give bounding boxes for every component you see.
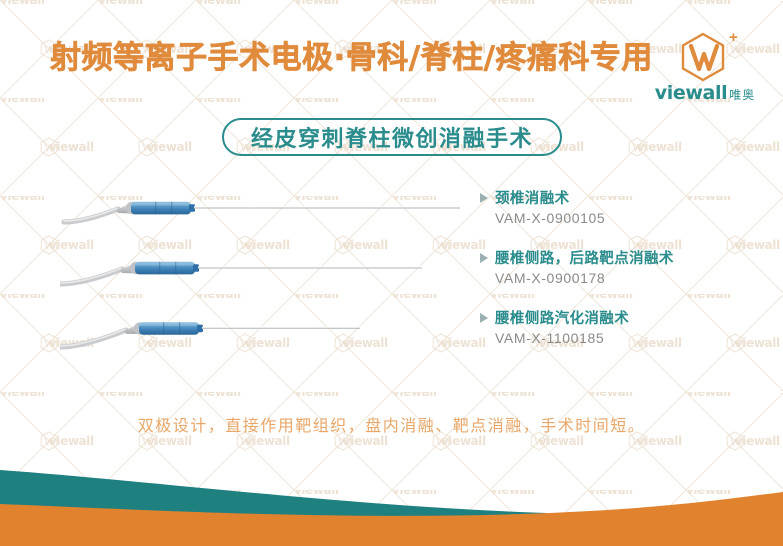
footer-caption-text: 双极设计，直接作用靶组织，盘内消融、靶点消融，手术时间短。 (138, 416, 646, 435)
footer-caption: 双极设计，直接作用靶组织，盘内消融、靶点消融，手术时间短。 (0, 412, 783, 436)
logo-wordmark: viewall唯奥 (649, 82, 761, 104)
product-spec-heading: 腰椎侧路汽化消融术 (480, 308, 770, 327)
product-row: 腰椎侧路汽化消融术 VAM-X-1100185 (0, 300, 783, 360)
page-title: 射频等离子手术电极·骨科/脊柱/疼痛科专用 (50, 38, 653, 78)
subtitle-badge: 经皮穿刺脊柱微创消融手术 (222, 118, 562, 156)
product-spec-heading: 腰椎侧路，后路靶点消融术 (480, 248, 770, 267)
product-row: 腰椎侧路，后路靶点消融术 VAM-X-0900178 (0, 240, 783, 300)
product-model-code: VAM-X-1100185 (495, 330, 770, 346)
product-model-code: VAM-X-0900178 (495, 270, 770, 286)
slide-canvas: viewall viewall 射频等离子手术电极·骨科/脊柱/疼痛科专用 + … (0, 0, 783, 546)
subtitle-label: 经皮穿刺脊柱微创消融手术 (251, 121, 533, 153)
product-name: 腰椎侧路，后路靶点消融术 (495, 247, 674, 268)
slide-header: 射频等离子手术电极·骨科/脊柱/疼痛科专用 + viewall唯奥 (0, 32, 783, 102)
product-row: 颈椎消融术 VAM-X-0900105 (0, 180, 783, 240)
hexagon-va-icon (677, 32, 729, 82)
product-name: 颈椎消融术 (495, 187, 570, 208)
triangle-bullet-icon (480, 193, 488, 203)
product-model-code: VAM-X-0900105 (495, 210, 770, 226)
rf-plasma-electrode-probe-icon (60, 180, 460, 240)
product-spec: 颈椎消融术 VAM-X-0900105 (480, 188, 770, 226)
brand-logo: + viewall唯奥 (649, 32, 761, 108)
triangle-bullet-icon (480, 253, 488, 263)
product-spec: 腰椎侧路，后路靶点消融术 VAM-X-0900178 (480, 248, 770, 286)
product-spec-heading: 颈椎消融术 (480, 188, 770, 207)
product-spec: 腰椎侧路汽化消融术 VAM-X-1100185 (480, 308, 770, 346)
triangle-bullet-icon (480, 313, 488, 323)
product-name: 腰椎侧路汽化消融术 (495, 307, 629, 328)
footer-wave-decoration (0, 456, 783, 546)
rf-plasma-electrode-probe-icon (60, 240, 460, 300)
logo-wordmark-cn: 唯奥 (729, 88, 755, 102)
product-list: 颈椎消融术 VAM-X-0900105 (0, 180, 783, 370)
rf-plasma-electrode-probe-icon (60, 300, 460, 360)
logo-wordmark-en: viewall (655, 82, 727, 104)
plus-icon: + (729, 32, 738, 44)
